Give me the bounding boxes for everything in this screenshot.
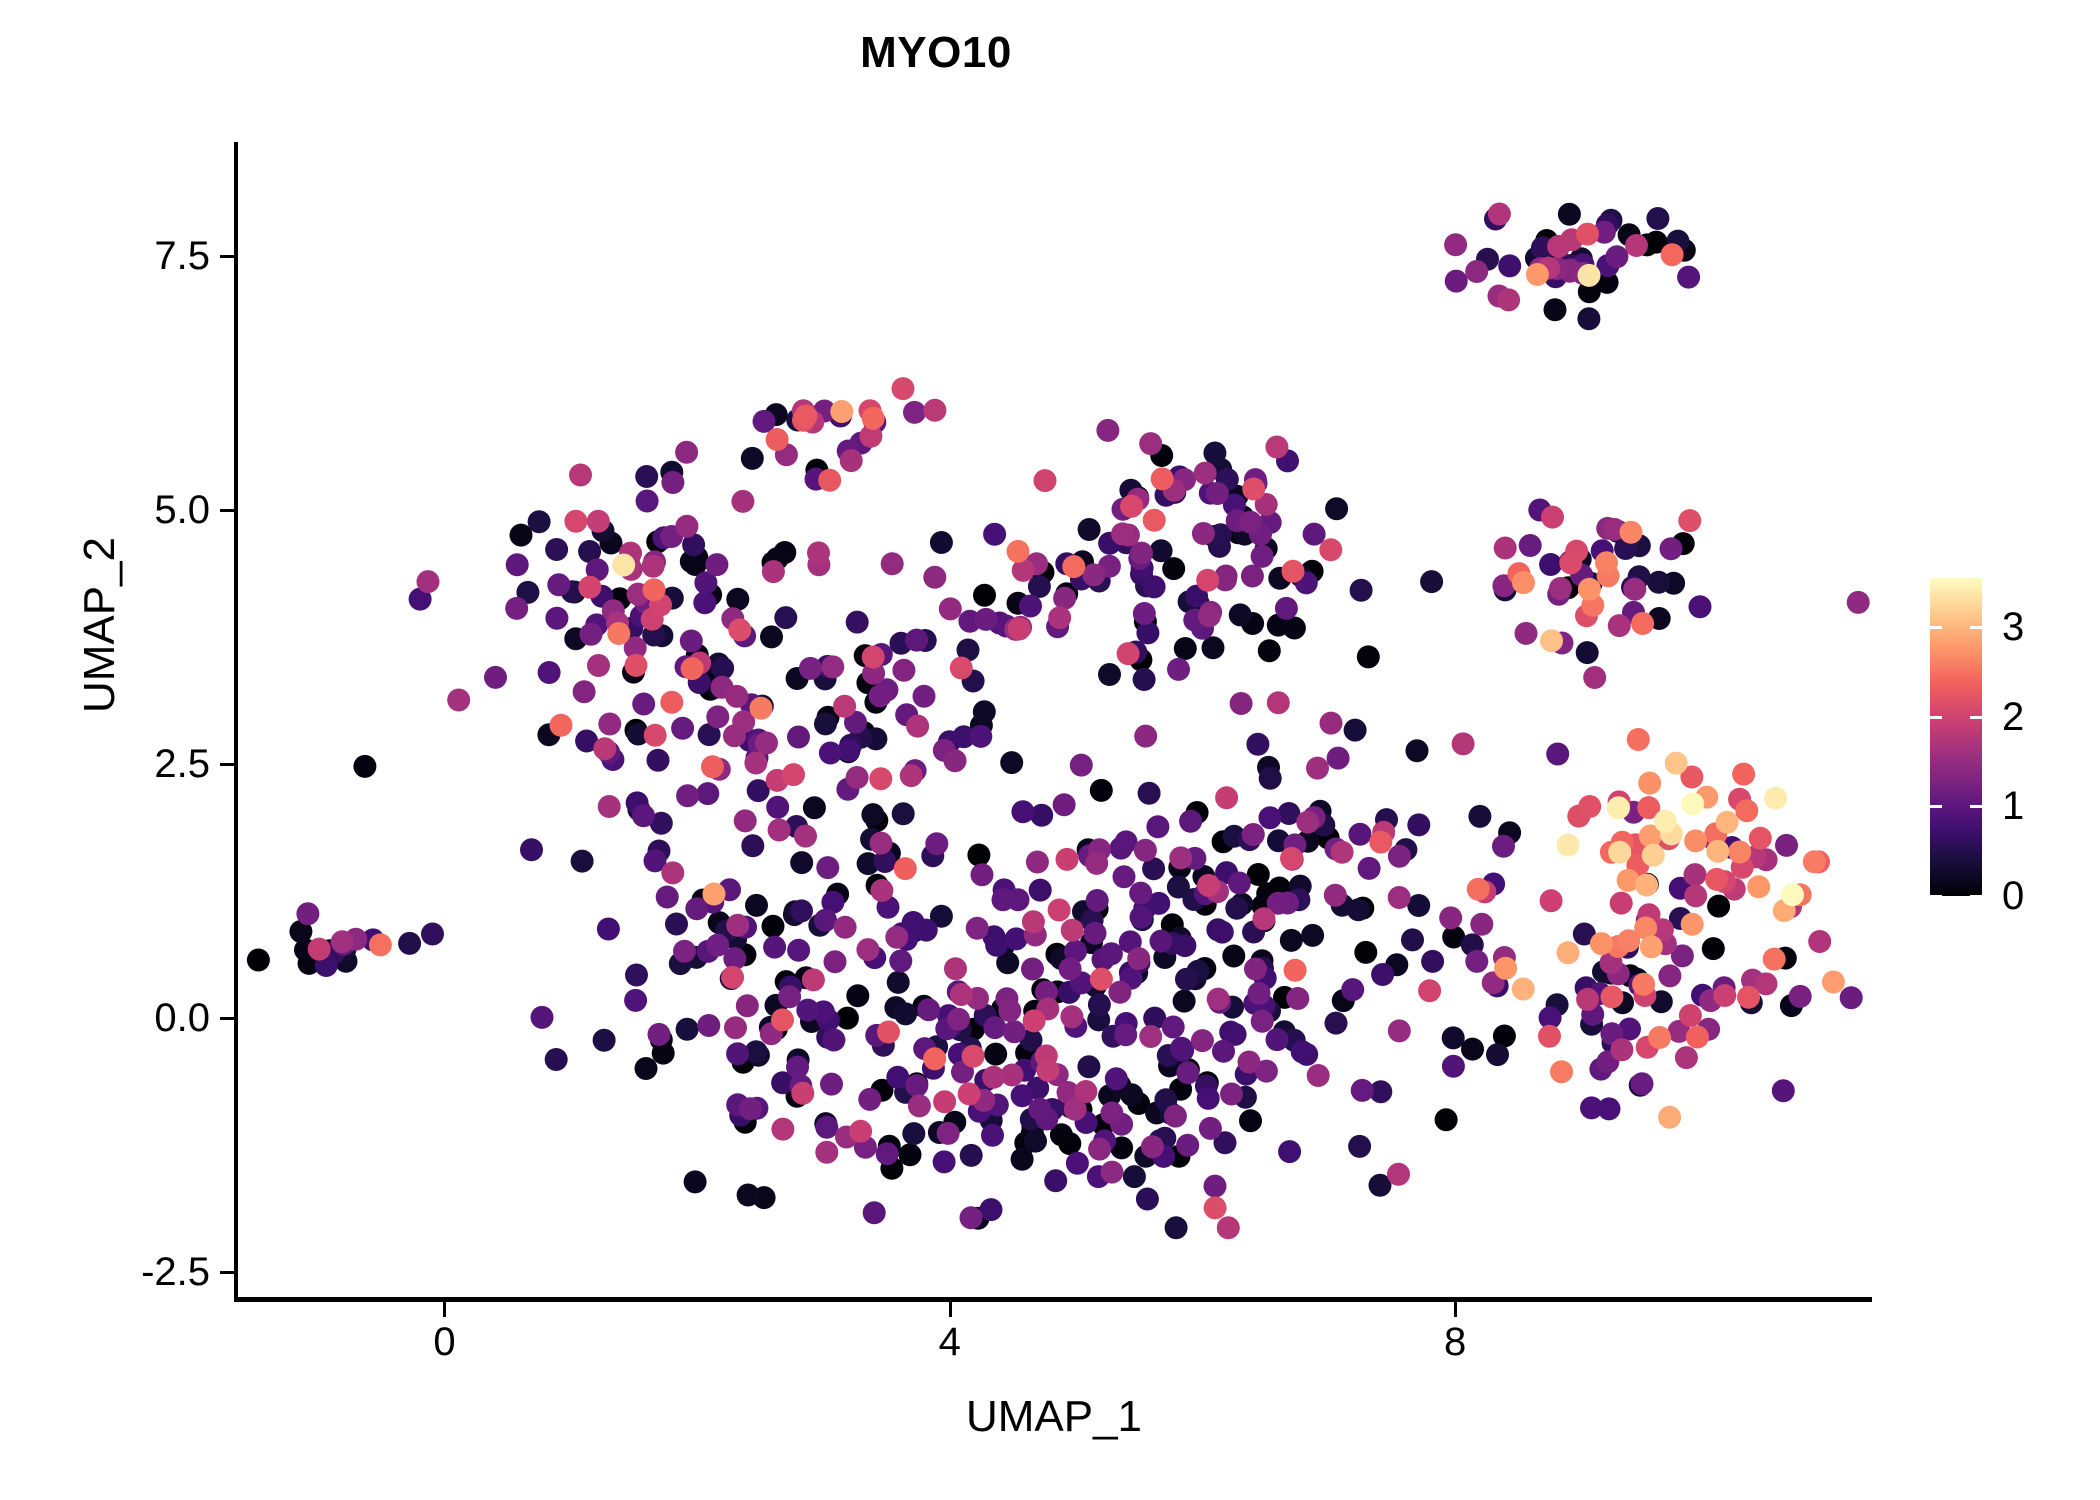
scatter-point — [528, 510, 551, 533]
scatter-point — [1150, 539, 1173, 562]
scatter-point — [840, 449, 863, 472]
scatter-point — [1062, 555, 1085, 578]
scatter-point — [1136, 1188, 1159, 1211]
scatter-point — [1705, 868, 1728, 891]
scatter-point — [607, 622, 630, 645]
x-tick-mark — [1454, 1302, 1457, 1317]
scatter-point — [1512, 571, 1535, 594]
scatter-point — [731, 490, 754, 513]
scatter-point — [1822, 971, 1845, 994]
scatter-point — [1306, 757, 1329, 780]
scatter-point — [803, 796, 826, 819]
scatter-point — [833, 695, 856, 718]
scatter-point — [1074, 1080, 1097, 1103]
scatter-point — [564, 510, 587, 533]
scatter-point — [1435, 1108, 1458, 1131]
scatter-point — [506, 553, 529, 576]
scatter-point — [1085, 852, 1108, 875]
y-tick-mark — [220, 1017, 234, 1020]
scatter-point — [1139, 432, 1162, 455]
scatter-point — [870, 832, 893, 855]
scatter-point — [1686, 1026, 1709, 1049]
scatter-point — [966, 917, 989, 940]
scatter-point — [1702, 937, 1725, 960]
scatter-point — [308, 938, 331, 961]
scatter-point — [787, 939, 810, 962]
scatter-point — [1444, 233, 1467, 256]
scatter-point — [1631, 612, 1654, 635]
scatter-point — [1418, 979, 1441, 1002]
scatter-point — [676, 1018, 699, 1041]
scatter-point — [1061, 919, 1084, 942]
scatter-point — [1303, 523, 1326, 546]
scatter-point — [1623, 578, 1646, 601]
scatter-point — [1646, 207, 1669, 230]
scatter-point — [1150, 930, 1173, 953]
scatter-point — [881, 552, 904, 575]
scatter-point — [869, 684, 892, 707]
scatter-point — [923, 1047, 946, 1070]
x-axis-title: UMAP_1 — [236, 1392, 1872, 1442]
scatter-point — [1358, 857, 1381, 880]
scatter-point — [587, 654, 610, 677]
scatter-point — [671, 717, 694, 740]
scatter-point — [1847, 591, 1870, 614]
scatter-point — [969, 725, 992, 748]
scatter-point — [1005, 927, 1028, 950]
scatter-point — [1138, 782, 1161, 805]
scatter-point — [1660, 537, 1683, 560]
scatter-point — [768, 819, 791, 842]
scatter-point — [1679, 1004, 1702, 1027]
scatter-point — [1840, 986, 1863, 1009]
scatter-point — [905, 629, 928, 652]
scatter-plot-panel — [236, 142, 1872, 1300]
scatter-point — [545, 538, 568, 561]
scatter-point — [950, 983, 973, 1006]
scatter-point — [1204, 1175, 1227, 1198]
scatter-point — [1442, 1055, 1465, 1078]
color-legend-tick-mark — [1930, 626, 1942, 629]
scatter-point — [782, 763, 805, 786]
scatter-point — [1635, 874, 1658, 897]
scatter-point — [1327, 747, 1350, 770]
scatter-point — [1324, 884, 1347, 907]
scatter-point — [771, 1008, 794, 1031]
scatter-point — [1265, 436, 1288, 459]
scatter-point — [1632, 973, 1655, 996]
scatter-point — [1022, 910, 1045, 933]
scatter-point — [814, 909, 837, 932]
scatter-point — [1610, 892, 1633, 915]
scatter-point — [862, 407, 885, 430]
scatter-point — [1627, 728, 1650, 751]
scatter-point — [741, 447, 764, 470]
scatter-point — [958, 1082, 981, 1105]
scatter-point — [676, 784, 699, 807]
scatter-point — [1164, 1105, 1187, 1128]
scatter-point — [1706, 840, 1729, 863]
scatter-point — [1488, 203, 1511, 226]
color-legend-tick-mark — [1930, 805, 1942, 808]
scatter-point — [1577, 307, 1600, 330]
scatter-point — [1066, 1152, 1089, 1175]
scatter-point — [1082, 563, 1105, 586]
scatter-point — [1319, 538, 1342, 561]
color-legend-tick-mark — [1970, 716, 1982, 719]
scatter-point — [923, 399, 946, 422]
scatter-point — [821, 655, 844, 678]
scatter-point — [1558, 203, 1581, 226]
scatter-point — [1470, 913, 1493, 936]
scatter-point — [1526, 263, 1549, 286]
scatter-point — [1351, 1079, 1374, 1102]
scatter-point — [1282, 560, 1305, 583]
scatter-point — [1595, 551, 1618, 574]
scatter-point — [1242, 823, 1265, 846]
scatter-point — [505, 597, 528, 620]
scatter-point — [887, 971, 910, 994]
scatter-point — [417, 570, 440, 593]
scatter-point — [1229, 603, 1252, 626]
scatter-point — [701, 755, 724, 778]
scatter-point — [1165, 1216, 1188, 1239]
scatter-point — [876, 1142, 899, 1165]
x-axis-line — [234, 1297, 1872, 1302]
scatter-point — [484, 666, 507, 689]
y-tick-label: 5.0 — [50, 490, 210, 530]
scatter-point — [1139, 1025, 1162, 1048]
scatter-point — [1546, 743, 1569, 766]
scatter-point — [1689, 595, 1712, 618]
scatter-point — [1658, 1106, 1681, 1129]
scatter-point — [937, 1122, 960, 1145]
scatter-point — [795, 405, 818, 428]
scatter-point — [1467, 878, 1490, 901]
color-legend-tick-label: 1 — [2002, 786, 2024, 826]
scatter-point — [1387, 1163, 1410, 1186]
scatter-point — [1203, 442, 1226, 465]
scatter-point — [906, 715, 929, 738]
scatter-point — [1078, 518, 1101, 541]
color-legend-tick-label: 3 — [2002, 607, 2024, 647]
page-title: MYO10 — [0, 28, 1872, 78]
scatter-point — [1354, 941, 1377, 964]
scatter-point — [673, 940, 696, 963]
scatter-point — [1114, 1023, 1137, 1046]
scatter-point — [1763, 948, 1786, 971]
scatter-point — [791, 1082, 814, 1105]
scatter-point — [569, 464, 592, 487]
scatter-point — [900, 764, 923, 787]
scatter-point — [917, 998, 940, 1021]
scatter-point — [1278, 1140, 1301, 1163]
scatter-point — [1129, 882, 1152, 905]
scatter-point — [1248, 982, 1271, 1005]
scatter-point — [1735, 799, 1758, 822]
scatter-point — [1253, 907, 1276, 930]
scatter-point — [1211, 921, 1234, 944]
scatter-point — [1258, 639, 1281, 662]
scatter-point — [1540, 889, 1563, 912]
scatter-point — [1174, 637, 1197, 660]
scatter-point — [824, 950, 847, 973]
scatter-point — [331, 930, 354, 953]
scatter-point — [1259, 767, 1282, 790]
scatter-point — [726, 1042, 749, 1065]
x-tick-label: 0 — [364, 1322, 524, 1362]
scatter-point — [744, 752, 767, 775]
scatter-point — [1127, 947, 1150, 970]
scatter-point — [545, 607, 568, 630]
scatter-point — [1541, 506, 1564, 529]
scatter-point — [1544, 298, 1567, 321]
scatter-point — [1275, 597, 1298, 620]
scatter-point — [908, 1094, 931, 1117]
scatter-point — [693, 591, 716, 614]
scatter-point — [1648, 1026, 1671, 1049]
scatter-point — [705, 553, 728, 576]
scatter-point — [734, 809, 757, 832]
scatter-point — [728, 618, 751, 641]
scatter-point — [985, 934, 1008, 957]
scatter-point — [1445, 270, 1468, 293]
scatter-point — [421, 923, 444, 946]
scatter-point — [885, 926, 908, 949]
scatter-point — [877, 1021, 900, 1044]
scatter-point — [1176, 1061, 1199, 1084]
scatter-point — [1605, 245, 1628, 268]
scatter-point — [1143, 575, 1166, 598]
scatter-point — [892, 802, 915, 825]
scatter-point — [992, 888, 1015, 911]
scatter-point — [550, 714, 573, 737]
scatter-point — [1539, 553, 1562, 576]
scatter-point — [760, 625, 783, 648]
scatter-point — [794, 825, 817, 848]
color-legend-tick-mark — [1970, 805, 1982, 808]
scatter-point — [1175, 968, 1198, 991]
scatter-point — [531, 1006, 554, 1029]
scatter-point — [762, 560, 785, 583]
scatter-point — [632, 804, 655, 827]
scatter-point — [790, 899, 813, 922]
scatter-point — [520, 838, 543, 861]
scatter-point — [925, 832, 948, 855]
scatter-point — [1053, 793, 1076, 816]
scatter-point — [1286, 987, 1309, 1010]
scatter-point — [973, 584, 996, 607]
scatter-point — [598, 795, 621, 818]
scatter-point — [1576, 988, 1599, 1011]
scatter-point — [1090, 968, 1113, 991]
scatter-point — [1658, 964, 1681, 987]
scatter-point — [861, 803, 884, 826]
scatter-point — [892, 377, 915, 400]
scatter-point — [1388, 845, 1411, 868]
scatter-point — [1220, 1083, 1243, 1106]
scatter-point — [1557, 834, 1580, 857]
scatter-point — [1000, 751, 1023, 774]
scatter-point — [1608, 614, 1631, 637]
scatter-point — [1100, 942, 1123, 965]
scatter-point — [981, 1124, 1004, 1147]
scatter-point — [933, 1090, 956, 1113]
scatter-point — [1307, 1064, 1330, 1087]
scatter-point — [1291, 1040, 1314, 1063]
scatter-point — [1141, 1135, 1164, 1158]
scatter-point — [1371, 963, 1394, 986]
scatter-point — [1259, 806, 1282, 829]
scatter-point — [1280, 847, 1303, 870]
scatter-point — [1241, 565, 1264, 588]
scatter-point — [1610, 1038, 1633, 1061]
scatter-point — [766, 428, 789, 451]
scatter-point — [1642, 844, 1665, 867]
scatter-point — [725, 685, 748, 708]
scatter-point — [1357, 645, 1380, 668]
scatter-point — [1486, 1043, 1509, 1066]
scatter-point — [1088, 1138, 1111, 1161]
scatter-point — [1549, 577, 1572, 600]
scatter-point — [739, 1097, 762, 1120]
scatter-point — [644, 724, 667, 747]
scatter-point — [983, 523, 1006, 546]
scatter-point — [1098, 663, 1121, 686]
scatter-point — [696, 782, 719, 805]
scatter-point — [1550, 1060, 1573, 1083]
scatter-point — [1173, 934, 1196, 957]
scatter-point — [1344, 719, 1367, 742]
scatter-point — [790, 851, 813, 874]
scatter-point — [1130, 906, 1153, 929]
scatter-point — [1173, 990, 1196, 1013]
scatter-point — [1583, 666, 1606, 689]
scatter-point — [771, 1118, 794, 1141]
scatter-point — [1497, 288, 1520, 311]
scatter-point — [1654, 810, 1677, 833]
scatter-point — [681, 657, 704, 680]
scatter-point — [930, 531, 953, 554]
scatter-point — [1280, 929, 1303, 952]
color-legend-tick-label: 2 — [2002, 697, 2024, 737]
scatter-point — [580, 623, 603, 646]
scatter-point — [1747, 875, 1770, 898]
scatter-point — [1007, 540, 1030, 563]
scatter-point — [1239, 511, 1262, 534]
scatter-point — [1198, 604, 1221, 627]
scatter-point — [1134, 725, 1157, 748]
scatter-point — [903, 401, 926, 424]
scatter-point — [1578, 578, 1601, 601]
scatter-point — [632, 693, 655, 716]
scatter-point — [1133, 668, 1156, 691]
scatter-point — [1239, 1109, 1262, 1132]
scatter-point — [1151, 467, 1174, 490]
scatter-point — [1647, 571, 1670, 594]
scatter-point — [1196, 569, 1219, 592]
scatter-point — [675, 441, 698, 464]
scatter-point — [1452, 732, 1475, 755]
scatter-point — [741, 834, 764, 857]
scatter-point — [1136, 621, 1159, 644]
scatter-point — [1347, 898, 1370, 921]
scatter-point — [1197, 1087, 1220, 1110]
scatter-point — [612, 554, 635, 577]
scatter-point — [1084, 922, 1107, 945]
scatter-point — [1191, 1029, 1214, 1052]
scatter-point — [980, 1198, 1003, 1221]
scatter-point — [923, 566, 946, 589]
scatter-point — [1713, 984, 1736, 1007]
scatter-point — [1194, 462, 1217, 485]
scatter-point — [971, 863, 994, 886]
scatter-point — [1737, 986, 1760, 1009]
scatter-point — [1349, 823, 1372, 846]
scatter-point — [660, 691, 683, 714]
scatter-point — [1406, 739, 1429, 762]
scatter-point — [1169, 846, 1192, 869]
color-legend-tick-label: 0 — [2002, 876, 2024, 916]
scatter-point — [1059, 957, 1082, 980]
scatter-point — [1238, 1051, 1261, 1074]
scatter-point — [1088, 993, 1111, 1016]
scatter-point — [807, 541, 830, 564]
scatter-point — [1246, 733, 1269, 756]
scatter-point — [1494, 957, 1517, 980]
scatter-point — [1003, 1020, 1026, 1043]
scatter-point — [820, 1073, 843, 1096]
scatter-point — [1222, 945, 1245, 968]
scatter-point — [661, 471, 684, 494]
scatter-point — [593, 737, 616, 760]
scatter-point — [973, 700, 996, 723]
scatter-point — [571, 850, 594, 873]
scatter-point — [1681, 913, 1704, 936]
scatter-point — [1179, 810, 1202, 833]
y-axis-title: UMAP_2 — [75, 225, 125, 1025]
scatter-point — [1053, 587, 1076, 610]
scatter-point — [1034, 469, 1057, 492]
scatter-point — [766, 796, 789, 819]
scatter-point — [1580, 1096, 1603, 1119]
scatter-point — [1143, 509, 1166, 532]
scatter-point — [1108, 981, 1131, 1004]
scatter-point — [1167, 658, 1190, 681]
scatter-point — [1492, 835, 1515, 858]
scatter-point — [846, 611, 869, 634]
scatter-point — [1325, 1012, 1348, 1035]
scatter-point — [1578, 795, 1601, 818]
scatter-point — [1420, 570, 1443, 593]
scatter-point — [721, 966, 744, 989]
scatter-point — [818, 469, 841, 492]
scatter-point — [960, 1144, 983, 1167]
scatter-point — [944, 749, 967, 772]
scatter-point — [960, 1206, 983, 1229]
scatter-point — [597, 918, 620, 941]
scatter-point — [1086, 889, 1109, 912]
scatter-point — [1019, 595, 1042, 618]
scatter-point — [1217, 1216, 1240, 1239]
scatter-point — [1029, 879, 1052, 902]
scatter-point — [1341, 978, 1364, 1001]
scatter-point — [1215, 786, 1238, 809]
scatter-point — [447, 689, 470, 712]
scatter-point — [636, 490, 659, 513]
scatter-point — [815, 1116, 838, 1139]
x-tick-label: 4 — [870, 1322, 1030, 1362]
